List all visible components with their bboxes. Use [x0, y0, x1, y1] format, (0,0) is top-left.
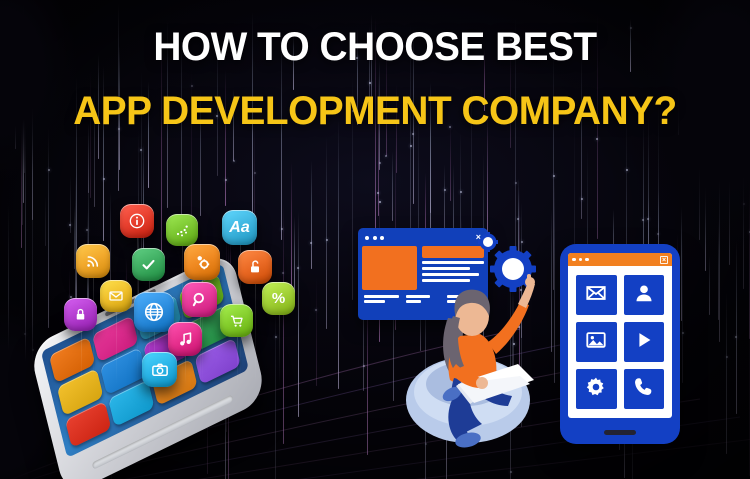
image-icon [585, 329, 607, 356]
light-node [385, 155, 387, 157]
light-streak [709, 255, 710, 315]
mid-scene: × [350, 228, 570, 458]
phone-traffic-lights [572, 258, 589, 262]
dots-grid-icon[interactable] [166, 214, 198, 246]
percent-icon[interactable]: % [262, 282, 295, 315]
lock-icon[interactable] [64, 298, 97, 331]
app-tile-call[interactable] [624, 369, 665, 409]
browser-text-line [364, 300, 385, 303]
gear-icon [585, 376, 607, 403]
phone-screen: × [568, 253, 672, 418]
light-node [410, 145, 412, 147]
light-streak [326, 135, 327, 329]
phone-icon [633, 376, 655, 403]
envelope-icon [585, 282, 607, 309]
browser-text-line [422, 261, 484, 264]
rss-icon[interactable] [76, 244, 110, 278]
browser-orange-bar [422, 246, 484, 258]
phone-dot [585, 258, 589, 262]
light-node [725, 142, 727, 144]
phone-titlebar: × [568, 253, 672, 266]
light-node [444, 189, 446, 191]
light-node [377, 192, 379, 194]
envelope-icon[interactable] [100, 280, 132, 312]
light-streak [392, 151, 393, 221]
unlock-icon[interactable] [238, 250, 272, 284]
user-icon [633, 282, 655, 309]
browser-text-line [422, 267, 470, 270]
settings-gears-icon[interactable] [184, 244, 220, 280]
light-streak [444, 164, 445, 238]
browser-titlebar: × [362, 232, 484, 243]
icon-light-stem [185, 356, 186, 386]
light-node [596, 138, 598, 140]
browser-traffic-lights [365, 236, 384, 240]
icon-light-stem [237, 337, 238, 386]
icon-light-stem [93, 278, 94, 386]
light-streak [450, 124, 451, 201]
camera-icon[interactable] [142, 352, 177, 387]
light-node [743, 203, 745, 205]
phone-dot [572, 258, 576, 262]
light-node [553, 175, 555, 177]
blue-phone-mockup: × [560, 244, 680, 444]
light-node [140, 149, 142, 151]
check-icon[interactable] [132, 248, 165, 281]
app-tile-gallery[interactable] [576, 322, 617, 362]
headline-block: HOW TO CHOOSE BEST APP DEVELOPMENT COMPA… [0, 26, 750, 133]
browser-dot [373, 236, 377, 240]
icon-light-stem [116, 312, 117, 386]
light-node [460, 191, 462, 193]
left-scene: Aa% [24, 186, 324, 461]
light-node [379, 201, 381, 203]
icon-light-stem [255, 284, 256, 386]
headline-line-2: APP DEVELOPMENT COMPANY? [29, 90, 722, 132]
browser-bottom-cell [364, 295, 399, 303]
cart-icon[interactable] [220, 304, 253, 337]
app-tile-profile[interactable] [624, 275, 665, 315]
browser-text-line [364, 295, 399, 298]
woman-with-laptop-illustration [400, 272, 550, 458]
browser-dot [365, 236, 369, 240]
phone-home-indicator [604, 430, 636, 435]
info-icon[interactable] [120, 204, 154, 238]
browser-dot [380, 236, 384, 240]
icon-light-stem [81, 331, 82, 386]
phone-dot [579, 258, 583, 262]
globe-icon[interactable] [134, 292, 174, 332]
text-style-icon[interactable]: Aa [222, 210, 257, 245]
light-node [626, 169, 628, 171]
app-tile-settings[interactable] [576, 369, 617, 409]
headline-line-1: HOW TO CHOOSE BEST [29, 26, 722, 68]
close-icon[interactable]: × [660, 256, 668, 264]
icon-light-stem [182, 246, 183, 386]
search-icon[interactable] [182, 282, 217, 317]
light-streak [743, 129, 744, 288]
light-node [233, 160, 235, 162]
light-node [254, 172, 256, 174]
light-node [515, 182, 517, 184]
light-streak [718, 218, 719, 320]
phone-app-grid [568, 266, 672, 418]
play-icon [633, 329, 655, 356]
light-node [379, 162, 381, 164]
light-node [326, 239, 328, 241]
light-streak [705, 185, 706, 272]
light-node [48, 169, 50, 171]
light-node [103, 178, 105, 180]
light-node [225, 179, 227, 181]
banner: HOW TO CHOOSE BEST APP DEVELOPMENT COMPA… [0, 0, 750, 479]
icon-light-stem [279, 315, 280, 386]
app-tile-mail[interactable] [576, 275, 617, 315]
small-gear-icon [478, 232, 498, 252]
app-tile-video[interactable] [624, 322, 665, 362]
music-icon[interactable] [168, 322, 202, 356]
